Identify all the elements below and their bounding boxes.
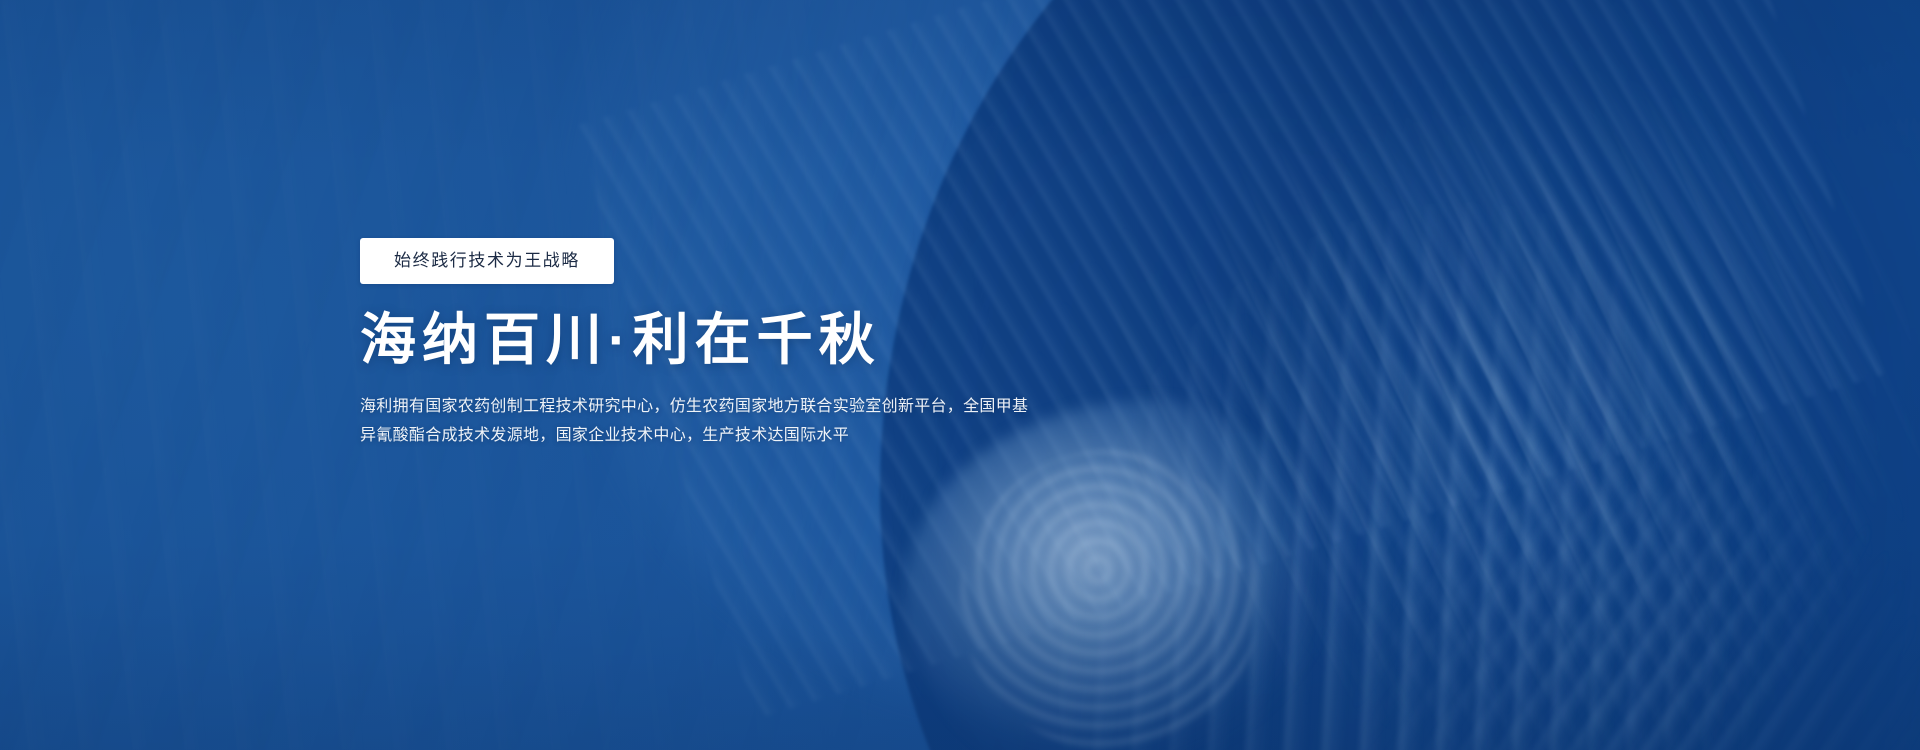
hero-description: 海利拥有国家农药创制工程技术研究中心，仿生农药国家地方联合实验室创新平台，全国甲… <box>360 392 1032 450</box>
hero-banner: 始终践行技术为王战略 海纳百川·利在千秋 海利拥有国家农药创制工程技术研究中心，… <box>0 0 1920 750</box>
hero-content: 始终践行技术为王战略 海纳百川·利在千秋 海利拥有国家农药创制工程技术研究中心，… <box>360 238 1080 450</box>
hero-slogan-badge: 始终践行技术为王战略 <box>360 238 614 284</box>
hero-headline: 海纳百川·利在千秋 <box>360 310 1080 370</box>
